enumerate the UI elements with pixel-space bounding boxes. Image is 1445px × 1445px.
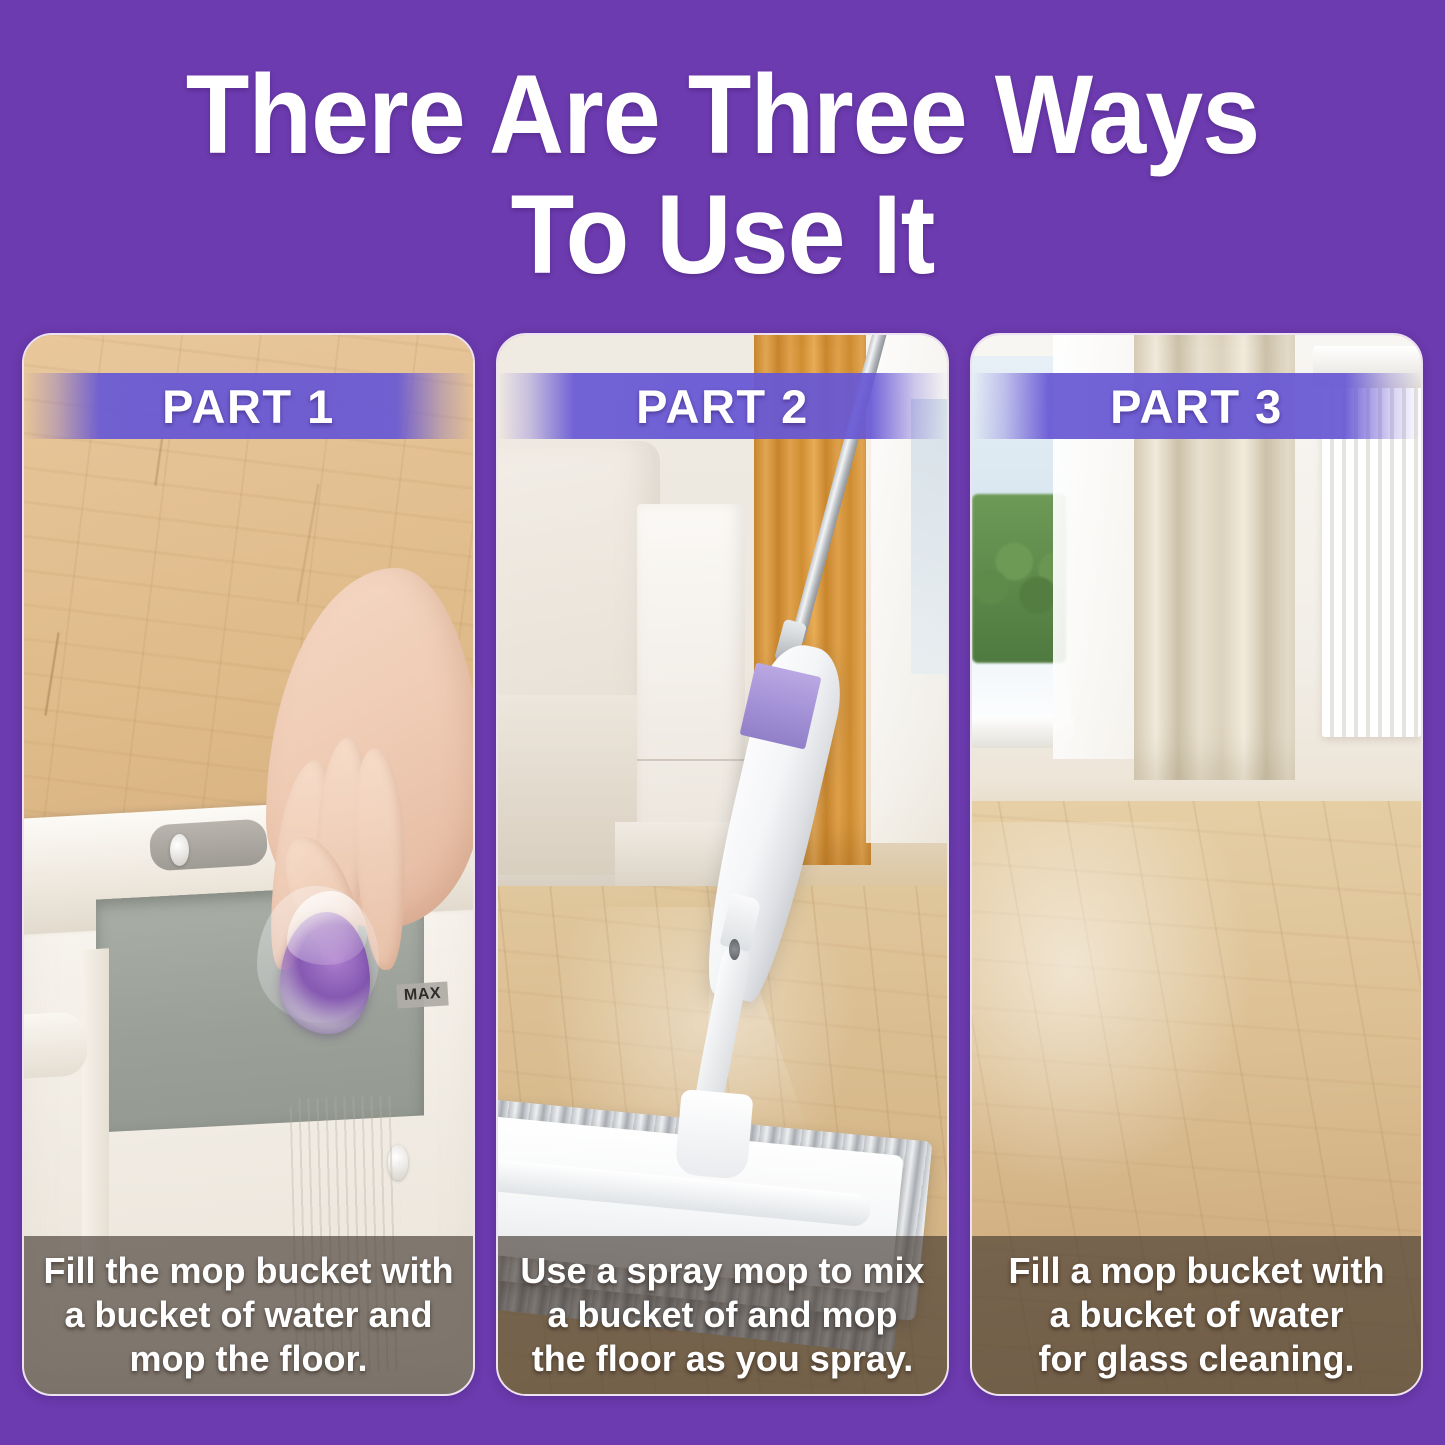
caption-bar-2: Use a spray mop to mix a bucket of and m… xyxy=(498,1236,947,1394)
part-badge-2: PART 2 xyxy=(498,373,947,439)
title-line-2: To Use It xyxy=(51,178,1395,292)
caption-text: Fill the mop bucket with a bucket of wat… xyxy=(43,1249,453,1381)
max-fill-label: MAX xyxy=(396,982,448,1009)
window xyxy=(911,399,947,674)
floor-reflection xyxy=(972,822,1250,1182)
part-badge-3: PART 3 xyxy=(972,373,1421,439)
caption-bar-3: Fill a mop bucket with a bucket of water… xyxy=(972,1236,1421,1394)
spray-nozzle xyxy=(729,939,740,960)
panel-part-1[interactable]: MAX PART 1 Fill the mop bucket with a bu… xyxy=(22,333,475,1396)
panel-row: MAX PART 1 Fill the mop bucket with a bu… xyxy=(22,333,1423,1396)
part-badge-label: PART 3 xyxy=(1110,379,1283,434)
mop-bucket-hinge-arm xyxy=(148,819,267,872)
caption-text: Fill a mop bucket with a bucket of water… xyxy=(1008,1249,1384,1381)
infographic-root: There Are Three Ways To Use It MAX xyxy=(0,0,1445,1445)
part-badge-label: PART 2 xyxy=(636,379,809,434)
page-title: There Are Three Ways To Use It xyxy=(0,58,1445,292)
mop-swivel-joint xyxy=(674,1089,753,1180)
panel-part-2[interactable]: PART 2 Use a spray mop to mix a bucket o… xyxy=(496,333,949,1396)
cabinet xyxy=(637,504,745,853)
mop-bucket-knob xyxy=(170,834,189,866)
mop-bucket-divider xyxy=(82,949,109,1268)
mop-bucket-pour-lip xyxy=(24,1011,88,1078)
caption-bar-1: Fill the mop bucket with a bucket of wat… xyxy=(24,1236,473,1394)
caption-text: Use a spray mop to mix a bucket of and m… xyxy=(520,1249,924,1381)
part-badge-label: PART 1 xyxy=(162,379,335,434)
panel-part-3[interactable]: PART 3 Fill a mop bucket with a bucket o… xyxy=(970,333,1423,1396)
cabinet-seam xyxy=(637,759,745,761)
title-line-1: There Are Three Ways xyxy=(51,58,1395,172)
part-badge-1: PART 1 xyxy=(24,373,473,439)
